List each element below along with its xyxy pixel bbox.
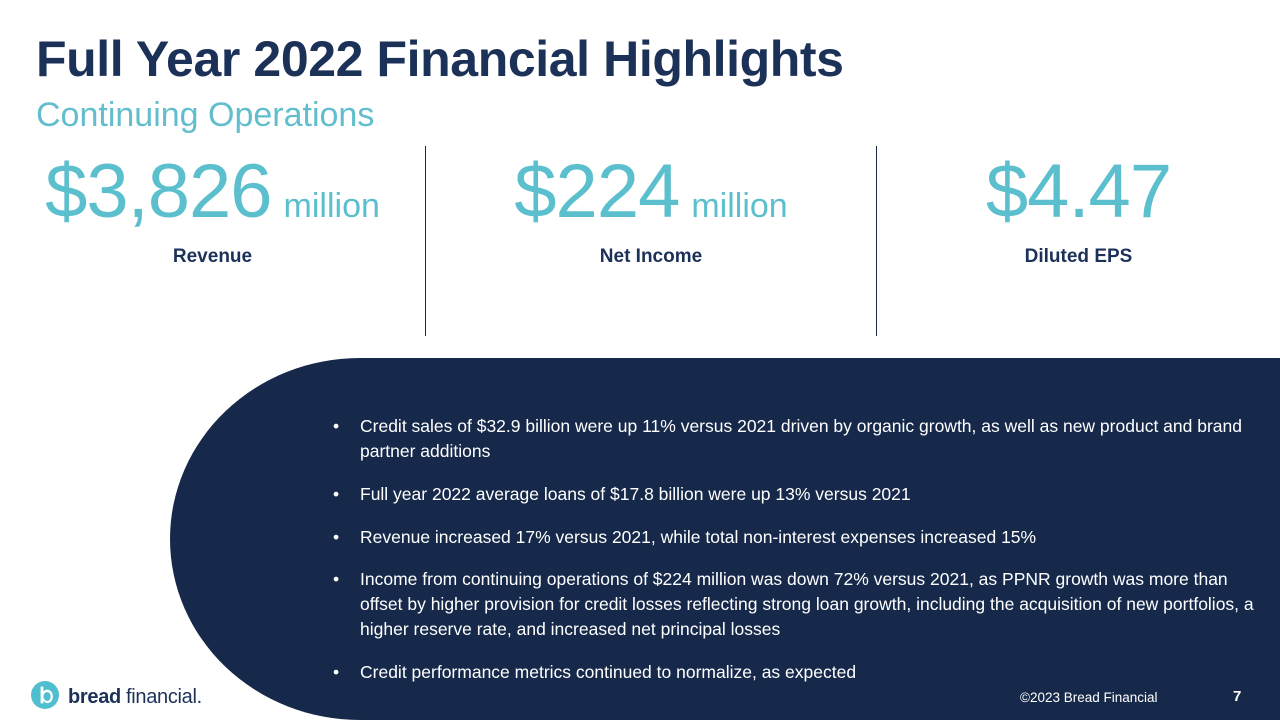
slide-page-number: 7 xyxy=(1233,688,1241,705)
logo-word-bread: bread xyxy=(68,686,121,709)
bullet-marker-icon: • xyxy=(333,567,339,592)
bullet-marker-icon: • xyxy=(333,414,339,439)
metric-divider xyxy=(425,146,426,336)
list-item-text: Full year 2022 average loans of $17.8 bi… xyxy=(360,484,911,504)
page-title: Full Year 2022 Financial Highlights xyxy=(36,32,844,86)
list-item: • Full year 2022 average loans of $17.8 … xyxy=(333,482,1263,507)
metric-value-row: $3,826million xyxy=(0,146,425,230)
metric-unit: million xyxy=(691,187,787,225)
list-item: • Revenue increased 17% versus 2021, whi… xyxy=(333,525,1263,550)
metric-label: Net Income xyxy=(426,246,876,268)
metric-value: $4.47 xyxy=(986,149,1171,234)
list-item-text: Income from continuing operations of $22… xyxy=(360,569,1254,639)
metric-value: $3,826 xyxy=(45,149,271,234)
metric-unit: million xyxy=(284,187,380,225)
metric-value-row: $224million xyxy=(426,146,876,230)
bullet-marker-icon: • xyxy=(333,660,339,685)
page-subtitle: Continuing Operations xyxy=(36,96,374,135)
metric-value-row: $4.47 xyxy=(877,146,1280,230)
metric-revenue: $3,826million Revenue xyxy=(0,146,425,268)
brand-logo: bread financial. xyxy=(30,680,202,715)
bullet-marker-icon: • xyxy=(333,482,339,507)
metric-value: $224 xyxy=(514,149,679,234)
list-item: • Credit sales of $32.9 billion were up … xyxy=(333,414,1263,464)
metric-divider xyxy=(876,146,877,336)
list-item-text: Credit performance metrics continued to … xyxy=(360,662,856,682)
list-item: • Income from continuing operations of $… xyxy=(333,567,1263,642)
highlights-bullet-list: • Credit sales of $32.9 billion were up … xyxy=(333,414,1263,685)
logo-word-financial: financial. xyxy=(126,686,202,709)
list-item-text: Revenue increased 17% versus 2021, while… xyxy=(360,527,1036,547)
slide: Full Year 2022 Financial Highlights Cont… xyxy=(0,0,1280,720)
metric-net-income: $224million Net Income xyxy=(426,146,876,268)
metrics-row: $3,826million Revenue $224million Net In… xyxy=(0,146,1280,341)
metric-label: Revenue xyxy=(0,246,425,268)
metric-diluted-eps: $4.47 Diluted EPS xyxy=(877,146,1280,268)
footer-copyright: ©2023 Bread Financial xyxy=(1020,690,1158,705)
metric-label: Diluted EPS xyxy=(877,246,1280,268)
list-item: • Credit performance metrics continued t… xyxy=(333,660,1263,685)
bullet-marker-icon: • xyxy=(333,525,339,550)
list-item-text: Credit sales of $32.9 billion were up 11… xyxy=(360,416,1242,461)
bread-financial-logo-icon xyxy=(30,680,60,715)
